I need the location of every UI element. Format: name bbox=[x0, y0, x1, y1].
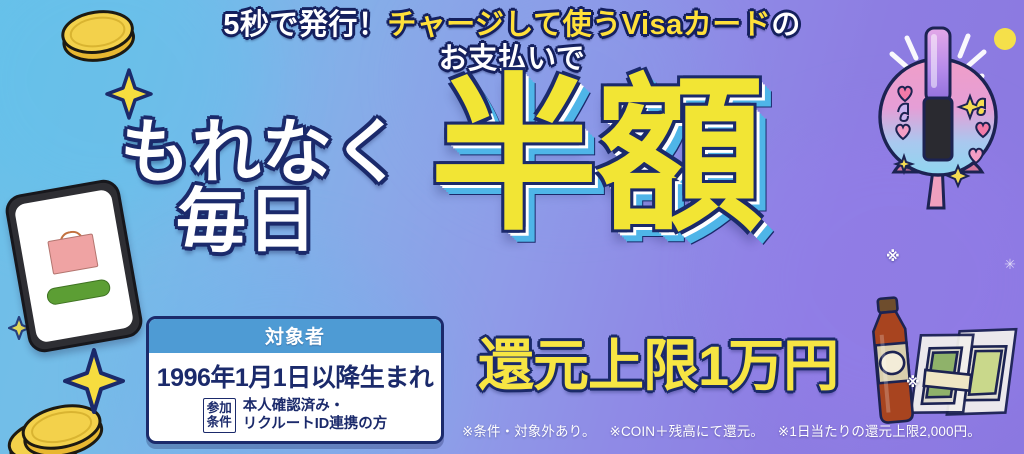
headline-line-1: 5秒で発行！チャージして使うVisaカードの bbox=[0, 8, 1024, 42]
snowflake-icon: ✳ bbox=[1002, 256, 1018, 272]
participation-condition-badge: 参加 条件 bbox=[203, 398, 236, 433]
lead-copy: もれなく 毎日 bbox=[120, 118, 404, 257]
sandwich-pack-icon bbox=[907, 307, 1022, 425]
footnote-item: ※COIN＋残高にて還元。 bbox=[610, 424, 764, 439]
coin-icon bbox=[0, 403, 94, 454]
footnote-item: ※1日当たりの還元上限2,000円。 bbox=[778, 424, 981, 439]
sparkle-icon bbox=[63, 348, 125, 414]
headline-part-2: チャージして使うVisaカード bbox=[387, 9, 771, 41]
asterisk-mark: ※ bbox=[886, 248, 900, 265]
eligibility-condition-row: 参加 条件 本人確認済み・ リクルートID連携の方 bbox=[149, 397, 441, 441]
tea-bottle-icon bbox=[858, 294, 925, 428]
headline-part-3: の bbox=[771, 9, 801, 41]
sparkle-icon bbox=[8, 316, 30, 340]
participation-condition-text-line-1: 本人確認済み・ bbox=[243, 397, 388, 415]
lead-line-1: もれなく bbox=[120, 118, 404, 187]
footnote-item: ※条件・対象外あり。 bbox=[462, 424, 596, 439]
coin-icon bbox=[13, 390, 112, 454]
participation-condition-text: 本人確認済み・ リクルートID連携の方 bbox=[243, 397, 388, 433]
footnotes: ※条件・対象外あり。※COIN＋残高にて還元。※1日当たりの還元上限2,000円… bbox=[462, 420, 981, 440]
asterisk-mark: ※ bbox=[906, 374, 920, 391]
phone-action-button bbox=[46, 278, 112, 306]
promo-banner: ✳ ✳ 5秒で発行！チャージして使うV bbox=[0, 0, 1024, 454]
hero-text-half-price: 半額 bbox=[430, 72, 762, 240]
shopping-bag-icon bbox=[46, 228, 96, 275]
lead-line-2: 毎日 bbox=[176, 187, 404, 256]
eligibility-birthdate: 1996年1月1日以降生まれ bbox=[149, 353, 441, 397]
participation-condition-badge-line-2: 条件 bbox=[207, 415, 232, 429]
phone-screen bbox=[14, 189, 135, 344]
participation-condition-badge-line-1: 参加 bbox=[207, 401, 232, 415]
eligibility-card: 対象者 1996年1月1日以降生まれ 参加 条件 本人確認済み・ リクルートID… bbox=[146, 316, 444, 444]
participation-condition-text-line-2: リクルートID連携の方 bbox=[243, 415, 388, 433]
cashback-cap-text: 還元上限1万円 bbox=[478, 338, 838, 394]
headline-part-1: 5秒で発行！ bbox=[223, 9, 387, 41]
eligibility-card-header: 対象者 bbox=[149, 319, 441, 353]
